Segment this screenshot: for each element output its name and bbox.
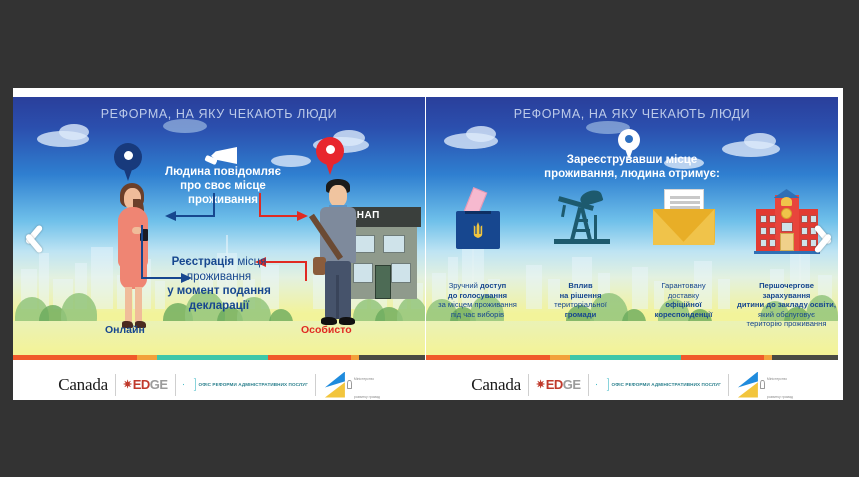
edge-star-icon: ✷	[123, 378, 132, 391]
benefit-line: громади	[529, 310, 632, 320]
poster-artwork-right: РЕФОРМА, НА ЯКУ ЧЕКАЮТЬ ЛЮДИ Зареєструва…	[426, 97, 838, 355]
label-online: Онлайн	[105, 324, 145, 336]
callout-text: Людина повідомляє про своє місце прожива…	[153, 165, 293, 207]
benefits-headline-line-2: проживання, людина отримує:	[426, 167, 838, 181]
map-pin-red-icon	[316, 137, 344, 177]
orau-triangle-icon	[183, 378, 196, 391]
screenshot-stage: РЕФОРМА, НА ЯКУ ЧЕКАЮТЬ ЛЮДИ Людина пові…	[0, 0, 859, 477]
envelope-icon	[653, 189, 715, 245]
carousel-slide-benefits[interactable]: РЕФОРМА, НА ЯКУ ЧЕКАЮТЬ ЛЮДИ Зареєструва…	[426, 88, 838, 400]
poster-title: РЕФОРМА, НА ЯКУ ЧЕКАЮТЬ ЛЮДИ	[13, 107, 425, 121]
benefits-headline: Зареєструвавши місце проживання, людина …	[426, 153, 838, 181]
ministry-caption-2: розвитку громад	[354, 395, 380, 399]
callout-line-1: Людина повідомляє	[153, 165, 293, 179]
orau-logo-text: ОФІС РЕФОРМИ АДМІНІСТРАТИВНИХ ПОСЛУГ	[612, 382, 721, 387]
image-carousel[interactable]: РЕФОРМА, НА ЯКУ ЧЕКАЮТЬ ЛЮДИ Людина пові…	[13, 88, 843, 400]
edge-red-text: ED	[133, 377, 150, 392]
chevron-left-icon	[17, 221, 35, 257]
label-in-person: Особисто	[301, 324, 352, 336]
orau-logo-text: ОФІС РЕФОРМИ АДМІНІСТРАТИВНИХ ПОСЛУГ	[199, 382, 308, 387]
benefit-line: до голосування	[426, 291, 529, 301]
edge-logo: ✷EDGE	[529, 372, 588, 398]
benefit-line: територіальної	[529, 300, 632, 310]
ministry-caption-1: Міністерство	[767, 377, 787, 381]
edge-logo-mark: ✷EDGE	[123, 377, 168, 392]
edge-grey-text: GE	[150, 377, 168, 392]
canada-wordmark: Canada	[464, 372, 528, 398]
ministry-logo: Міністерство розвитку громад	[729, 372, 800, 398]
benefit-line: Вплив	[529, 281, 632, 291]
edge-logo: ✷EDGE	[116, 372, 175, 398]
registration-line-3: у момент подання	[131, 284, 307, 299]
edge-star-icon: ✷	[536, 378, 545, 391]
poster-title: РЕФОРМА, НА ЯКУ ЧЕКАЮТЬ ЛЮДИ	[426, 107, 838, 121]
cloud-shape	[59, 124, 89, 140]
previous-slide-button[interactable]	[14, 212, 40, 266]
callout-line-2: про своє місце	[153, 179, 293, 193]
benefit-text-school: Першочергове зарахування дитини до закла…	[735, 281, 838, 329]
benefit-line: який обслуговує	[735, 310, 838, 320]
canada-wordmark: Canada	[51, 372, 115, 398]
ukraine-flag-icon	[736, 372, 760, 398]
registration-line-4: декларації	[131, 299, 307, 314]
benefit-line: Гарантовану	[632, 281, 735, 291]
benefit-line: офіційної	[632, 300, 735, 310]
ukraine-flag-icon	[323, 372, 347, 398]
ukraine-trident-icon	[471, 221, 485, 239]
edge-grey-text: GE	[563, 377, 581, 392]
benefit-line: територію проживання	[735, 319, 838, 329]
ministry-emblem-icon	[347, 380, 352, 389]
cloud-shape	[466, 126, 496, 142]
benefits-row: Зручний доступ до голосування за місцем …	[426, 189, 838, 349]
orau-triangle-icon	[596, 378, 609, 391]
man-figure-illustration	[309, 179, 371, 335]
map-pin-blue-icon	[114, 143, 142, 183]
benefit-text-voting: Зручний доступ до голосування за місцем …	[426, 281, 529, 319]
benefit-line: під час виборів	[426, 310, 529, 320]
ministry-logo: Міністерство розвитку громад	[316, 372, 387, 398]
benefit-line: Зручний доступ	[426, 281, 529, 291]
edge-red-text: ED	[546, 377, 563, 392]
ministry-caption-1: Міністерство	[354, 377, 374, 381]
orau-logo: ОФІС РЕФОРМИ АДМІНІСТРАТИВНИХ ПОСЛУГ	[176, 372, 315, 398]
benefit-line: дитини до закладу освіти,	[735, 300, 838, 310]
benefit-item-voting: Зручний доступ до голосування за місцем …	[426, 189, 529, 349]
benefit-text-mail: Гарантовану доставку офіційної кореспонд…	[632, 281, 735, 319]
callout-line-3: проживання	[153, 193, 293, 207]
orau-logo: ОФІС РЕФОРМИ АДМІНІСТРАТИВНИХ ПОСЛУГ	[589, 372, 728, 398]
orau-logo-mark: ОФІС РЕФОРМИ АДМІНІСТРАТИВНИХ ПОСЛУГ	[183, 378, 308, 391]
canada-wordmark-text: Canada	[58, 375, 108, 395]
benefit-item-mail: Гарантовану доставку офіційної кореспонд…	[632, 189, 735, 349]
registration-line-2: проживання	[131, 270, 307, 285]
benefits-headline-line-1: Зареєструвавши місце	[426, 153, 838, 167]
benefit-item-influence: Вплив на рішення територіальної громади	[529, 189, 632, 349]
registration-bold: Реєстрація	[172, 256, 235, 268]
ministry-caption-2: розвитку громад	[767, 395, 793, 399]
school-building-icon	[756, 189, 818, 251]
carousel-slide-declaration[interactable]: РЕФОРМА, НА ЯКУ ЧЕКАЮТЬ ЛЮДИ Людина пові…	[13, 88, 425, 400]
benefit-line: кореспонденції	[632, 310, 735, 320]
cloud-shape	[163, 119, 207, 133]
ballot-box-icon	[456, 189, 500, 249]
megaphone-icon	[205, 145, 239, 167]
next-slide-button[interactable]	[819, 212, 845, 266]
canada-wordmark-text: Canada	[471, 375, 521, 395]
oil-pumpjack-icon	[550, 189, 612, 251]
benefit-text-influence: Вплив на рішення територіальної громади	[529, 281, 632, 319]
benefit-line: Першочергове зарахування	[735, 281, 838, 300]
benefit-line: доставку	[632, 291, 735, 301]
orau-logo-mark: ОФІС РЕФОРМИ АДМІНІСТРАТИВНИХ ПОСЛУГ	[596, 378, 721, 391]
poster-artwork-left: РЕФОРМА, НА ЯКУ ЧЕКАЮТЬ ЛЮДИ Людина пові…	[13, 97, 425, 355]
registration-line-1: Реєстрація місця	[131, 255, 307, 270]
registration-text: Реєстрація місця проживання у момент под…	[131, 255, 307, 313]
ministry-emblem-icon	[760, 380, 765, 389]
footer-logo-bar: Canada ✷EDGE ОФІС РЕФОРМИ АДМІНІСТРАТИВ	[13, 360, 425, 400]
benefit-line: за місцем проживання	[426, 300, 529, 310]
benefit-line: на рішення	[529, 291, 632, 301]
chevron-right-icon	[822, 221, 840, 257]
footer-logo-bar: Canada ✷EDGE ОФІС РЕФОРМИ АДМІНІСТРАТИВ	[426, 360, 838, 400]
edge-logo-mark: ✷EDGE	[536, 377, 581, 392]
cloud-shape	[744, 133, 776, 149]
registration-rest: місця	[234, 256, 266, 268]
